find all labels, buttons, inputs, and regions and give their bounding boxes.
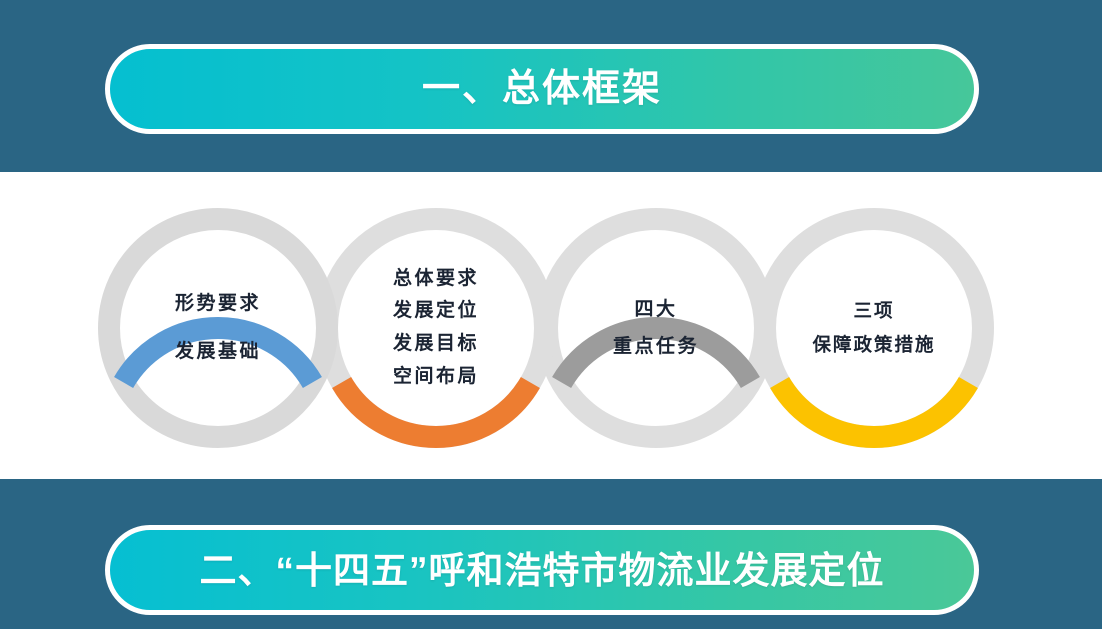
ring-safeguard-policies: 三项 保障政策措施 bbox=[753, 207, 995, 449]
ring-requirements-layout-graphic bbox=[315, 207, 557, 449]
ring-requirements-layout: 总体要求 发展定位 发展目标 空间布局 bbox=[315, 207, 557, 449]
banner-overall-framework-title: 一、总体框架 bbox=[422, 70, 662, 108]
ring-key-tasks: 四大 重点任务 bbox=[535, 207, 777, 449]
banner-positioning-title: 二、“十四五”呼和浩特市物流业发展定位 bbox=[200, 552, 885, 589]
infographic-canvas: 一、总体框架 形势要求 发展基础 总体要求 发展定位 发展目标 bbox=[0, 0, 1102, 629]
ring-safeguard-policies-graphic bbox=[753, 207, 995, 449]
banner-overall-framework: 一、总体框架 bbox=[105, 44, 979, 134]
ring-key-tasks-graphic bbox=[535, 207, 777, 449]
banner-positioning: 二、“十四五”呼和浩特市物流业发展定位 bbox=[105, 525, 979, 615]
ring-situation-foundation-graphic bbox=[97, 207, 339, 449]
ring-situation-foundation: 形势要求 发展基础 bbox=[97, 207, 339, 449]
ring-group: 形势要求 发展基础 总体要求 发展定位 发展目标 空间布局 bbox=[0, 172, 1102, 479]
